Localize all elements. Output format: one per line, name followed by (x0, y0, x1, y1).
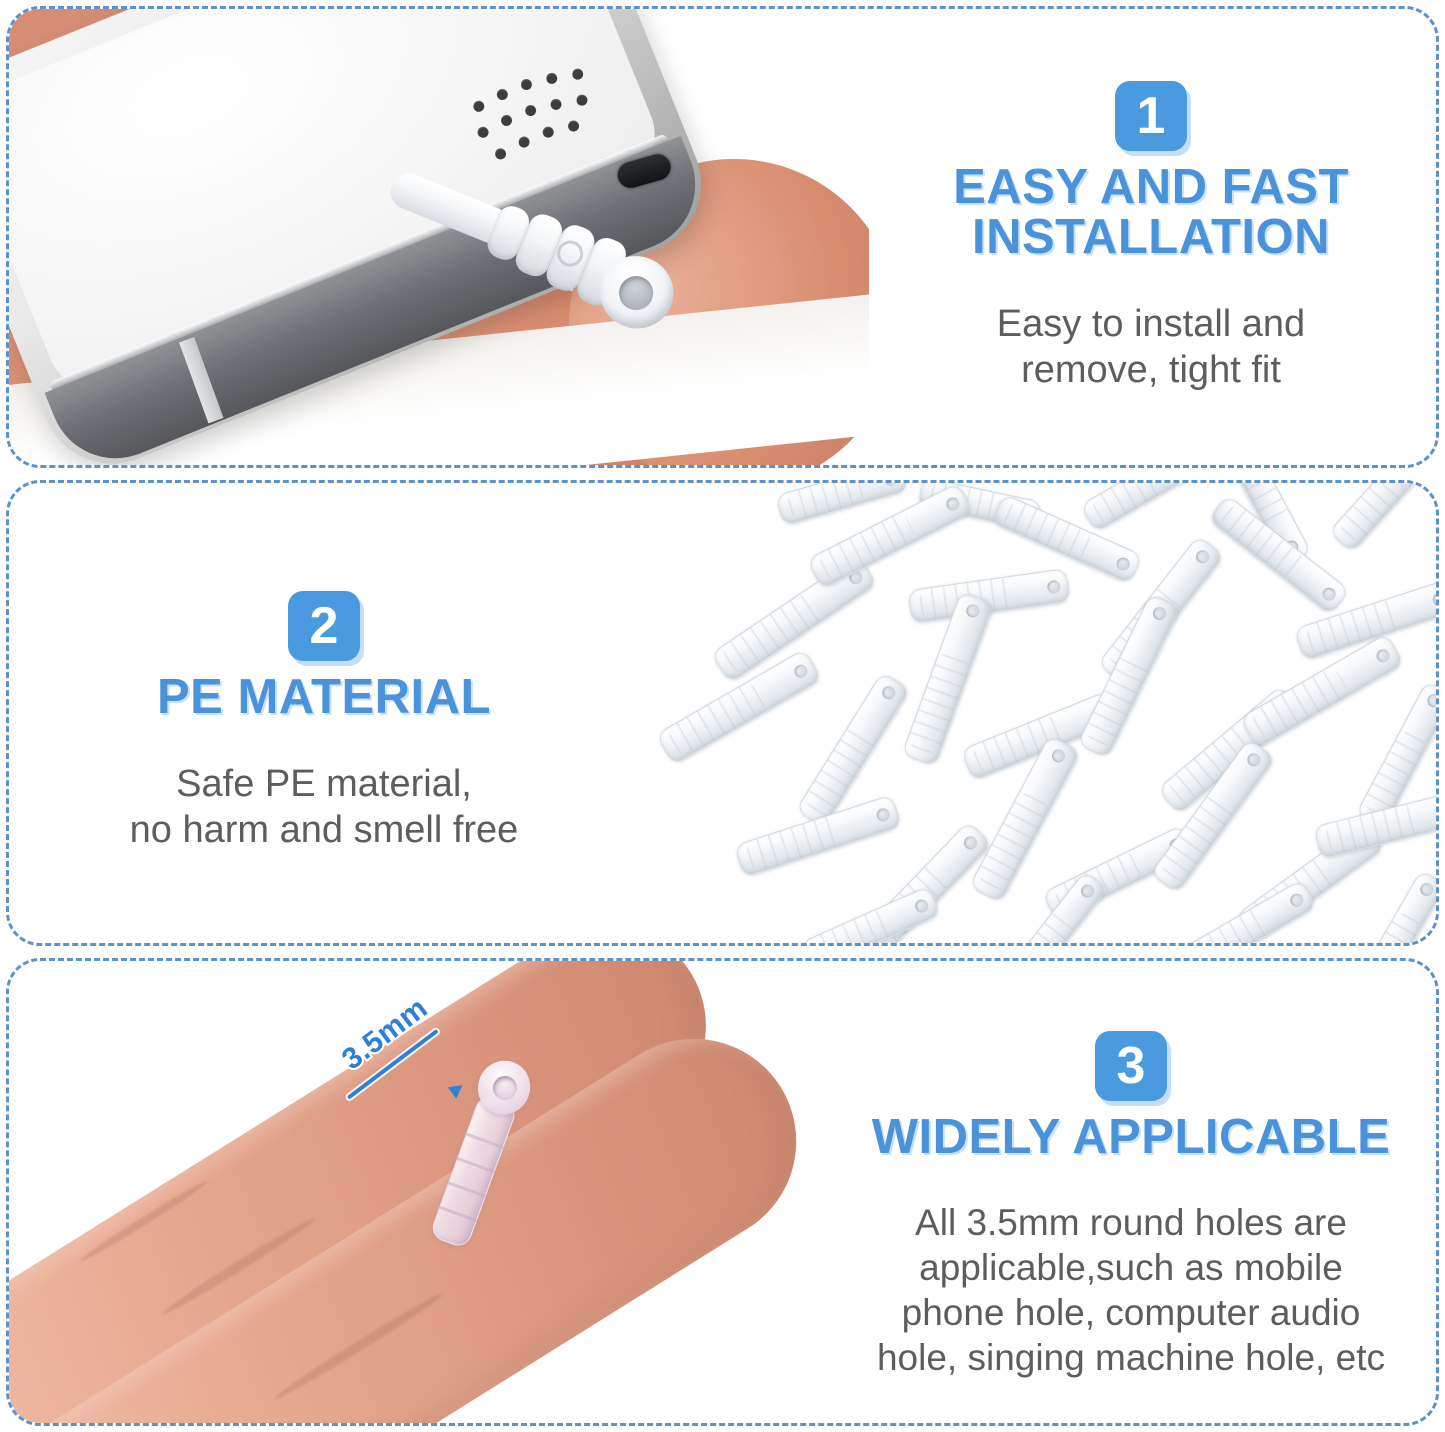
subtext-line: Safe PE material, (176, 763, 472, 805)
feature-panel-3: 3 WIDELY APPLICABLE All 3.5mm round hole… (6, 958, 1439, 1426)
subtext-line: no harm and smell free (130, 809, 519, 851)
subtext-line: hole, singing machine hole, etc (877, 1337, 1385, 1378)
panel-2-text: 2 PE MATERIAL Safe PE material, no harm … (39, 591, 609, 892)
subtext-line: remove, tight fit (1021, 349, 1281, 391)
panel-3-text: 3 WIDELY APPLICABLE All 3.5mm round hole… (821, 1031, 1436, 1417)
panel-1-text: 1 EASY AND FAST INSTALLATION Easy to ins… (861, 81, 1436, 432)
panel-2-subtext: Safe PE material, no harm and smell free (39, 761, 609, 854)
panel-3-content: 3 WIDELY APPLICABLE All 3.5mm round hole… (9, 961, 1436, 1423)
panel-2-content: 2 PE MATERIAL Safe PE material, no harm … (9, 483, 1436, 943)
step-badge-1: 1 (1115, 81, 1187, 151)
infographic-stage: 1 EASY AND FAST INSTALLATION Easy to ins… (0, 0, 1445, 1432)
size-callout: 3.5mm (330, 1030, 500, 1130)
subtext-line: All 3.5mm round holes are (915, 1202, 1347, 1243)
headline-line: EASY AND FAST (953, 160, 1349, 214)
panel-2-headline: PE MATERIAL (39, 673, 609, 723)
step-badge-2: 2 (288, 591, 360, 661)
step-badge-3: 3 (1095, 1031, 1167, 1101)
panel-1-subtext: Easy to install and remove, tight fit (861, 301, 1436, 394)
subtext-line: Easy to install and (997, 303, 1305, 345)
subtext-line: phone hole, computer audio (902, 1292, 1361, 1333)
installation-photo (9, 9, 869, 465)
panel-1-headline: EASY AND FAST INSTALLATION (861, 163, 1436, 263)
panel-1-content: 1 EASY AND FAST INSTALLATION Easy to ins… (9, 9, 1436, 465)
panel-3-subtext: All 3.5mm round holes are applicable,suc… (821, 1200, 1436, 1381)
panel-3-headline: WIDELY APPLICABLE (821, 1113, 1436, 1163)
subtext-line: applicable,such as mobile (919, 1247, 1343, 1288)
headline-line: INSTALLATION (972, 210, 1330, 264)
headline-line: WIDELY APPLICABLE (872, 1110, 1391, 1164)
feature-panel-1: 1 EASY AND FAST INSTALLATION Easy to ins… (6, 6, 1439, 468)
plugs-pile-photo (609, 483, 1436, 943)
feature-panel-2: 2 PE MATERIAL Safe PE material, no harm … (6, 480, 1439, 946)
dimension-arrow-icon (448, 1080, 467, 1099)
headline-line: PE MATERIAL (157, 670, 491, 724)
